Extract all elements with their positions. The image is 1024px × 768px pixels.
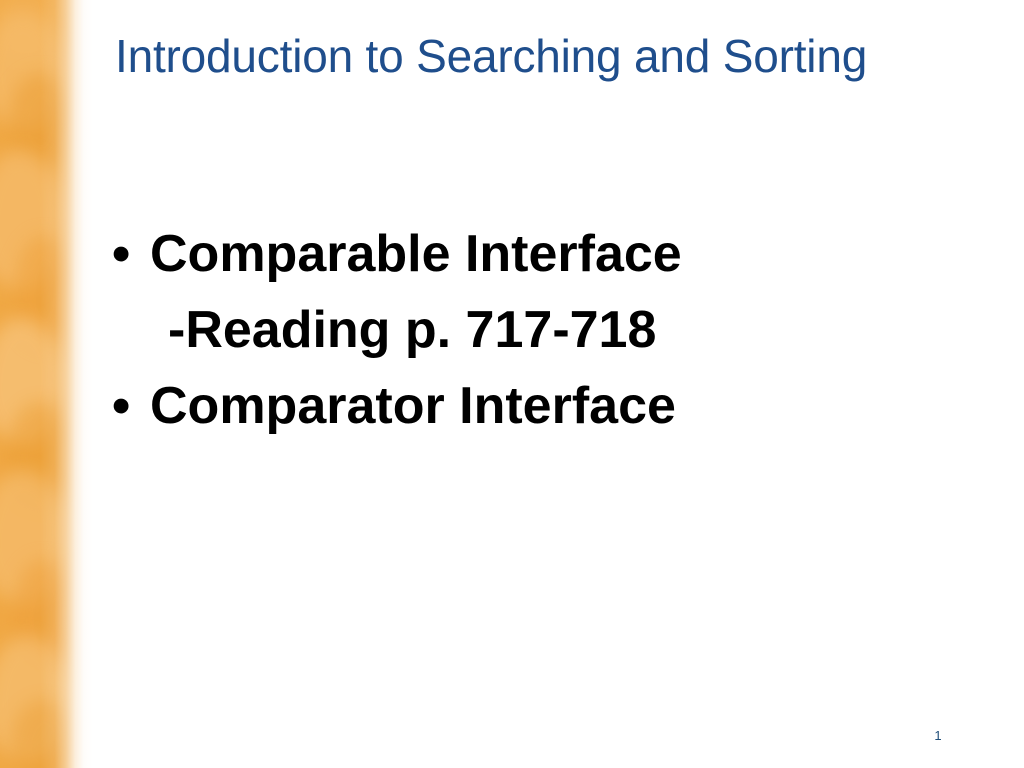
- bullet-point-icon: •: [112, 216, 150, 292]
- bullet-item: • Comparable Interface: [112, 216, 912, 292]
- bullet-item: • Comparator Interface: [112, 368, 912, 444]
- bullet-item-label: Comparator Interface: [150, 368, 676, 444]
- band-texture-patch: [0, 150, 62, 290]
- bullet-point-icon: •: [112, 368, 150, 444]
- sub-bullet-item-label: -Reading p. 717-718: [168, 292, 656, 368]
- left-decorative-band: [0, 0, 92, 768]
- bullet-item-label: Comparable Interface: [150, 216, 682, 292]
- slide-title: Introduction to Searching and Sorting: [115, 28, 995, 84]
- band-texture-patch: [12, 560, 76, 672]
- sub-bullet-item: -Reading p. 717-718: [112, 292, 912, 368]
- band-texture-patch: [0, 636, 68, 762]
- slide-body: • Comparable Interface -Reading p. 717-7…: [112, 216, 912, 444]
- band-texture-patch: [0, 10, 62, 130]
- presentation-slide: Introduction to Searching and Sorting • …: [0, 0, 1024, 768]
- band-texture-patch: [14, 236, 76, 346]
- slide-page-number: 1: [926, 728, 950, 744]
- band-texture-patch: [0, 318, 62, 444]
- band-texture-patch: [8, 74, 74, 170]
- band-texture-patch: [10, 700, 78, 768]
- band-texture-patch: [0, 0, 60, 60]
- band-texture-patch: [0, 470, 66, 604]
- band-texture-patch: [6, 402, 76, 506]
